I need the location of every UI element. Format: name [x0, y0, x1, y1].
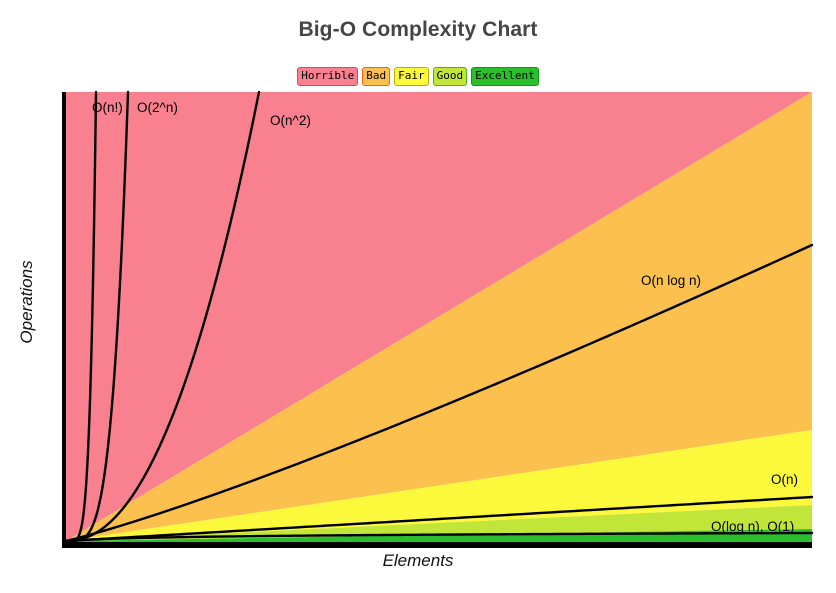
- curve-label-exponential: O(2^n): [137, 100, 178, 115]
- curve-label-factorial: O(n!): [92, 100, 123, 115]
- big-o-complexity-chart-page: Big-O Complexity Chart HorribleBadFairGo…: [0, 0, 836, 588]
- curve-label-linearithmic: O(n log n): [641, 273, 701, 288]
- complexity-plot-svg: O(n!)O(2^n)O(n^2)O(n log n)O(n)O(log n),…: [0, 0, 836, 588]
- curve-label-quadratic: O(n^2): [270, 113, 311, 128]
- x-axis-label: Elements: [0, 551, 836, 571]
- regions-group: [64, 92, 812, 543]
- y-axis-label: Operations: [17, 242, 37, 362]
- x-axis-line: [62, 542, 812, 548]
- curve-label-logarithmic: O(log n), O(1): [711, 519, 794, 534]
- y-axis-line: [62, 92, 66, 548]
- curve-label-linear: O(n): [771, 472, 798, 487]
- plot-area: O(n!)O(2^n)O(n^2)O(n log n)O(n)O(log n),…: [0, 0, 836, 588]
